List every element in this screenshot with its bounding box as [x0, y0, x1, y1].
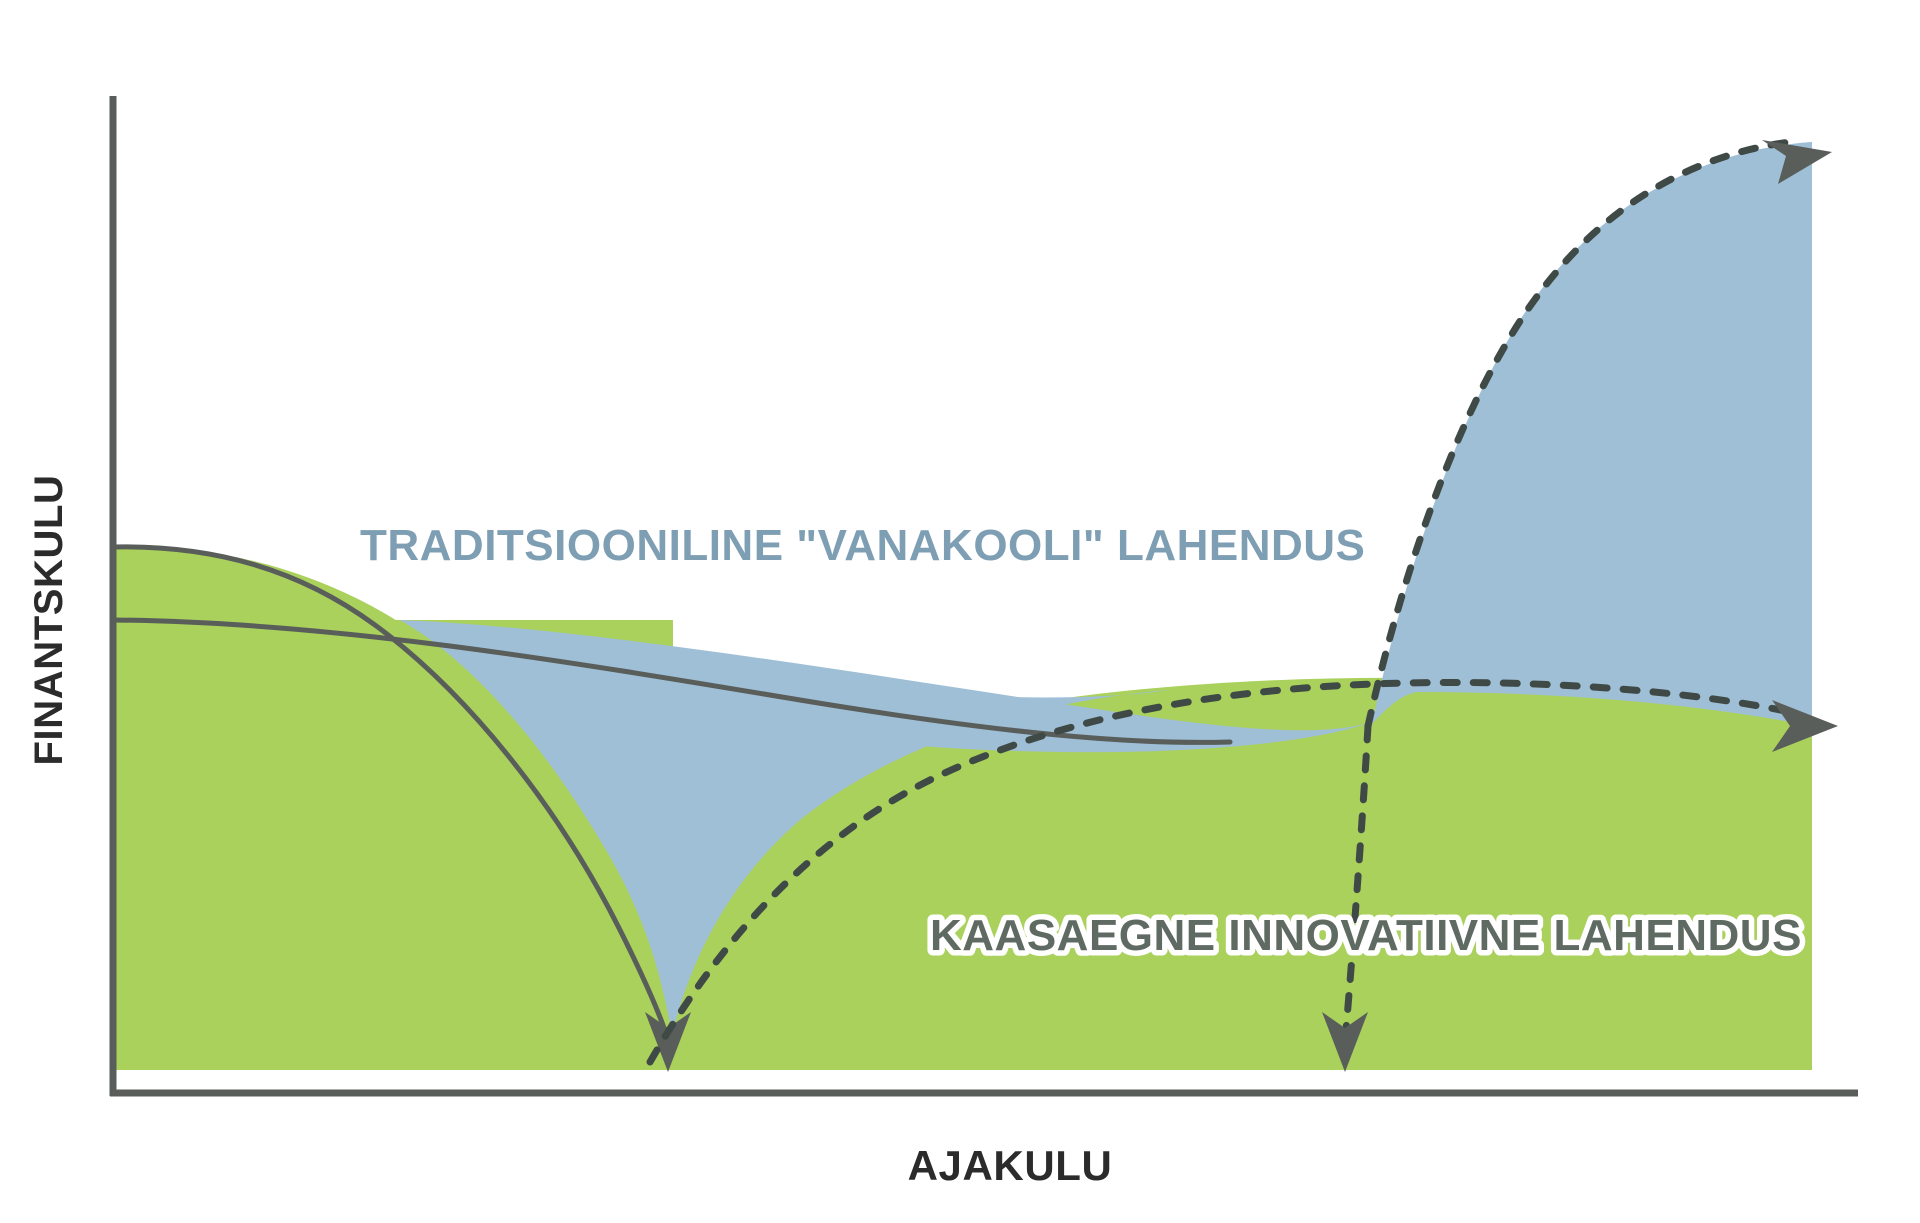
traditional-growth-hill	[1372, 142, 1812, 726]
annotation-traditional: TRADITSIOONILINE "VANAKOOLI" LAHENDUS	[360, 521, 1365, 570]
y-axis-label: FINANTSKULU	[27, 474, 71, 765]
chart-figure: FINANTSKULU AJAKULU TRADITSIOONILINE "VA…	[0, 0, 1920, 1223]
chart-root: FINANTSKULU AJAKULU TRADITSIOONILINE "VA…	[0, 0, 1920, 1223]
x-axis-label: AJAKULU	[908, 1142, 1113, 1189]
annotation-modern: KAASAEGNE INNOVATIIVNE LAHENDUS	[930, 911, 1802, 960]
